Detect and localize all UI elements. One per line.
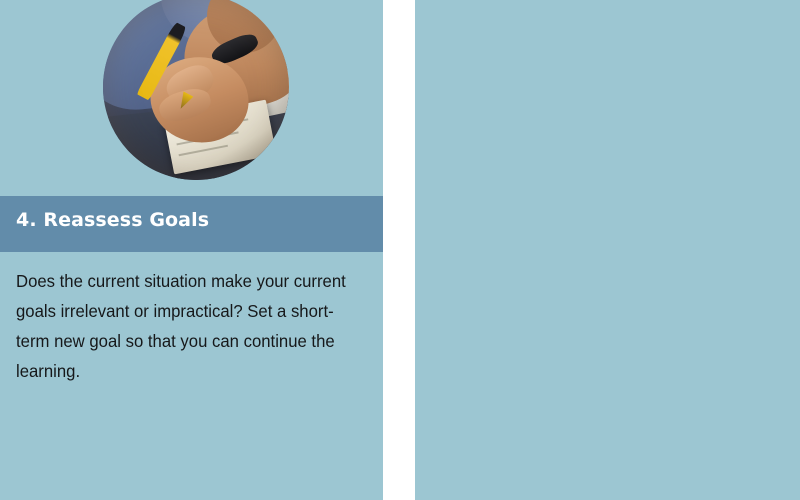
card-header-bar-4: 4. Reassess Goals bbox=[0, 196, 383, 252]
card-title-4: 4. Reassess Goals bbox=[16, 208, 209, 232]
card-body-4: Does the current situation make your cur… bbox=[16, 266, 360, 386]
card-panel-double-down-on-learning: 5. Double Down onLearning This is a grea… bbox=[415, 0, 800, 500]
photo-person-writing-notes bbox=[103, 0, 289, 180]
card-panel-reassess-goals: 4. Reassess Goals Does the current situa… bbox=[0, 0, 383, 500]
slide-canvas: 4. Reassess Goals Does the current situa… bbox=[0, 0, 800, 500]
photo-person-writing-notes-image bbox=[103, 0, 289, 180]
